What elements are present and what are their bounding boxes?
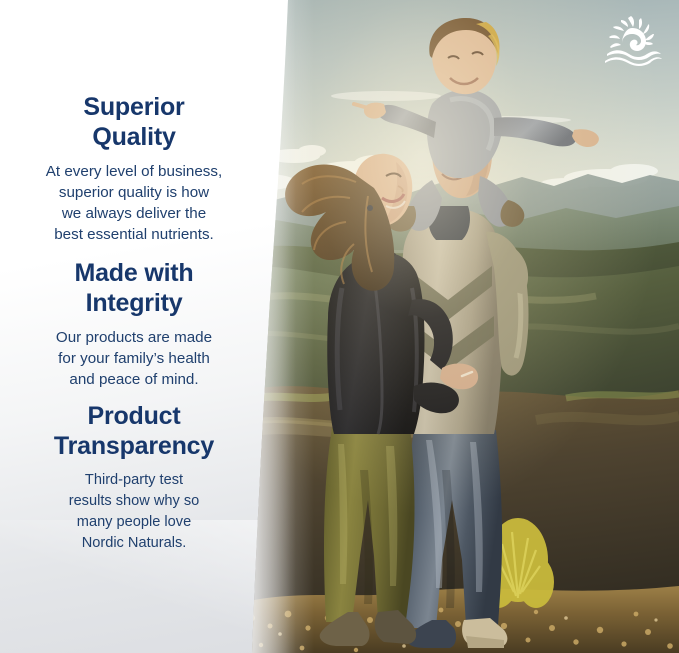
family-on-mountain-photo (236, 0, 679, 653)
value-prop-title: Product Transparency (12, 401, 256, 461)
value-prop-body: Third-party test results show why so man… (12, 470, 256, 554)
value-prop-made-with-integrity: Made with Integrity Our products are mad… (12, 258, 256, 390)
value-prop-body: Our products are made for your family’s … (12, 327, 256, 390)
promo-banner: Superior Quality At every level of busin… (0, 0, 679, 653)
value-prop-title: Made with Integrity (12, 258, 256, 318)
value-prop-body: At every level of business, superior qua… (12, 161, 256, 245)
value-prop-superior-quality: Superior Quality At every level of busin… (12, 92, 256, 245)
value-prop-product-transparency: Product Transparency Third-party test re… (12, 401, 256, 554)
value-prop-title: Superior Quality (12, 92, 256, 152)
sun-wave-logo-icon (601, 14, 663, 66)
